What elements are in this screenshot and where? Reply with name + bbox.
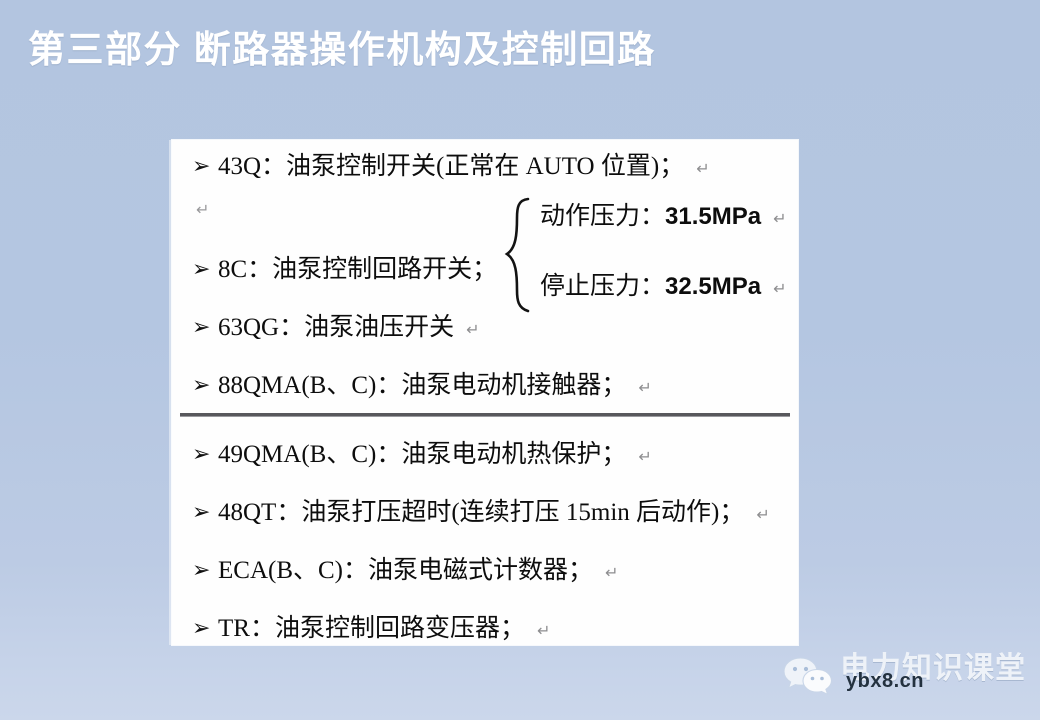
pilcrow-icon: ↵ [638, 373, 651, 403]
list-item: ➢ TR：油泵控制回路变压器； ↵ [192, 614, 550, 646]
slide-canvas: 第三部分 断路器操作机构及控制回路 ➢ 43Q：油泵控制开关(正常在 AUTO … [0, 0, 1040, 720]
curly-brace-icon [502, 196, 532, 314]
list-item: ➢ 8C：油泵控制回路开关； [192, 255, 509, 286]
list-item: ➢ ECA(B、C)：油泵电磁式计数器； ↵ [192, 556, 618, 588]
bullet-arrow-icon: ➢ [192, 313, 218, 343]
pressure-value: 32.5MPa [665, 273, 761, 300]
bullet-arrow-icon: ➢ [192, 498, 218, 528]
list-item: ➢ 49QMA(B、C)：油泵电动机热保护； ↵ [192, 440, 652, 472]
bullet-arrow-icon: ➢ [192, 152, 218, 182]
list-item-label: 63QG：油泵油压开关 [218, 313, 454, 343]
pilcrow-icon: ↵ [605, 558, 618, 588]
list-item-label: 48QT：油泵打压超时(连续打压 15min 后动作)； [218, 498, 744, 528]
list-item-label: 49QMA(B、C)：油泵电动机热保护； [218, 440, 626, 470]
list-item: ➢ 88QMA(B、C)：油泵电动机接触器； ↵ [192, 371, 652, 403]
bullet-arrow-icon: ➢ [192, 614, 218, 644]
pilcrow-icon: ↵ [466, 315, 479, 345]
list-item-label: ECA(B、C)：油泵电磁式计数器； [218, 556, 593, 586]
pilcrow-icon: ↵ [638, 442, 651, 472]
wechat-icon [782, 654, 834, 698]
pilcrow-icon: ↵ [773, 204, 786, 234]
bullet-arrow-icon: ➢ [192, 440, 218, 470]
content-card: ➢ 43Q：油泵控制开关(正常在 AUTO 位置)； ↵ ↵ ➢ 8C：油泵控制… [172, 140, 798, 645]
page-title: 第三部分 断路器操作机构及控制回路 [28, 26, 968, 74]
bullet-arrow-icon: ➢ [192, 371, 218, 401]
pilcrow-icon: ↵ [537, 616, 550, 646]
watermark-url: ybx8.cn [846, 670, 924, 693]
pilcrow-icon: ↵ [696, 154, 709, 184]
list-item: ➢ 63QG：油泵油压开关 ↵ [192, 313, 480, 345]
pressure-label: 停止压力： [540, 273, 665, 300]
pressure-line-operate: 动作压力：31.5MPa↵ [540, 202, 786, 234]
list-item-label: TR：油泵控制回路变压器； [218, 614, 525, 644]
list-item-label: 43Q：油泵控制开关(正常在 AUTO 位置)； [218, 152, 684, 182]
pilcrow-icon: ↵ [773, 274, 786, 304]
pilcrow-icon: ↵ [756, 500, 769, 530]
watermark-texts: 电力知识课堂 ybx8.cn [840, 652, 1026, 700]
bullet-arrow-icon: ➢ [192, 255, 218, 285]
list-item: ➢ 48QT：油泵打压超时(连续打压 15min 后动作)； ↵ [192, 498, 770, 530]
list-item-label: 8C：油泵控制回路开关； [218, 255, 497, 285]
pressure-annotation-group: 动作压力：31.5MPa↵ 停止压力：32.5MPa↵ [502, 202, 792, 312]
pressure-value: 31.5MPa [665, 203, 761, 230]
list-item: ➢ 43Q：油泵控制开关(正常在 AUTO 位置)； ↵ [192, 152, 710, 184]
watermark: 电力知识课堂 ybx8.cn [782, 648, 1026, 704]
bullet-arrow-icon: ➢ [192, 556, 218, 586]
pressure-label: 动作压力： [540, 203, 665, 230]
section-divider [180, 413, 790, 417]
list-item-label: 88QMA(B、C)：油泵电动机接触器； [218, 371, 626, 401]
empty-paragraph-mark: ↵ [196, 200, 209, 219]
pressure-line-stop: 停止压力：32.5MPa↵ [540, 272, 786, 304]
